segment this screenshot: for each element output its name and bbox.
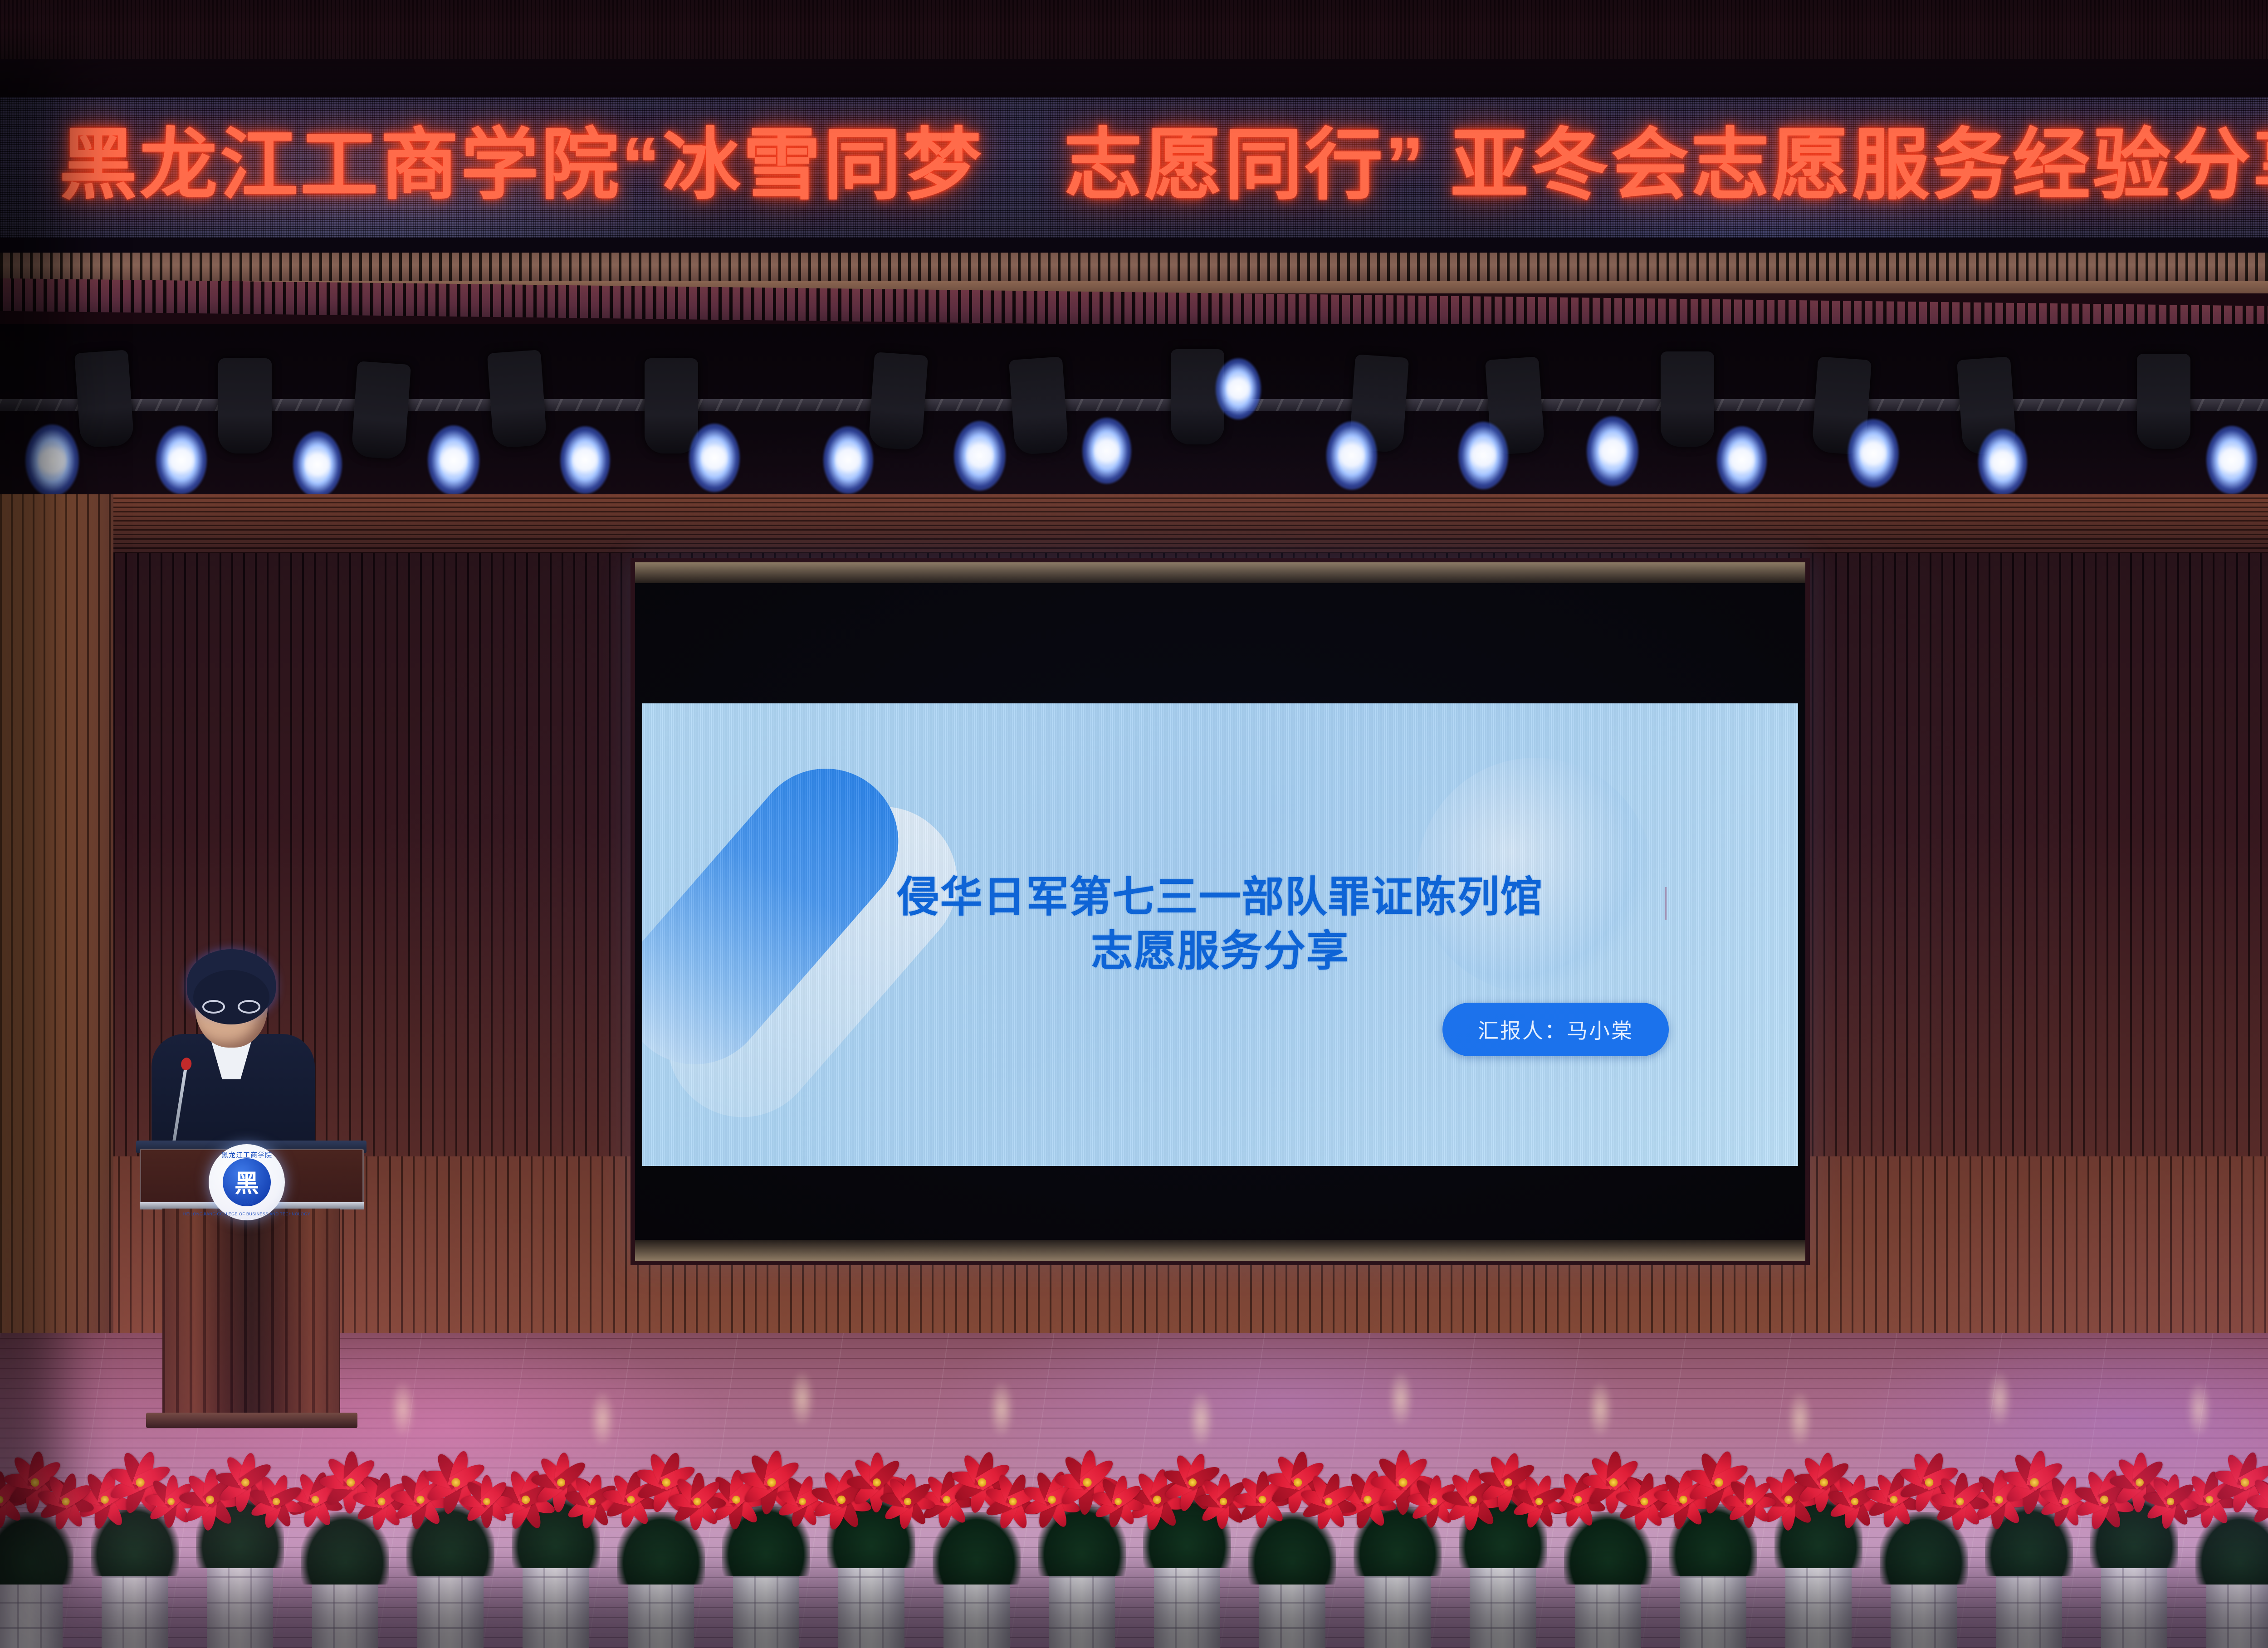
poinsettia-center xyxy=(1220,1498,1227,1506)
presentation-slide: 侵华日军第七三一部队罪证陈列馆 志愿服务分享 汇报人：马小棠 xyxy=(642,703,1798,1166)
poinsettia-center xyxy=(101,1496,109,1504)
poinsettia-center xyxy=(2136,1478,2144,1487)
poinsettia-bloom xyxy=(46,1482,85,1521)
floor-light-reflection xyxy=(390,1380,415,1438)
slide-content: 侵华日军第七三一部队罪证陈列馆 志愿服务分享 汇报人：马小棠 xyxy=(642,703,1798,1166)
stage-lamp xyxy=(156,426,207,494)
poinsettia-plant xyxy=(2077,1444,2191,1648)
poinsettia-center xyxy=(1679,1496,1687,1504)
poinsettia-center xyxy=(1890,1496,1897,1503)
stage-lamp xyxy=(689,424,740,492)
stage-lamp xyxy=(293,431,342,497)
stage-lamp xyxy=(1082,418,1131,484)
stage-lamp-core xyxy=(966,437,994,474)
university-emblem: 黑龙江工商学院 黑 2002 HEILONGJIANG COLLEGE OF B… xyxy=(209,1144,285,1220)
poinsettia-center xyxy=(1535,1498,1543,1506)
poinsettia-plant xyxy=(1762,1444,1875,1648)
stage-lamp xyxy=(1587,416,1638,486)
poinsettia-center xyxy=(62,1497,69,1505)
stage-lamp xyxy=(1717,426,1767,494)
stage-lamp-core xyxy=(304,447,331,483)
poinsettia-bloom xyxy=(1309,1482,1348,1521)
floor-light-reflection xyxy=(989,1380,1014,1438)
poinsettia-center xyxy=(873,1478,881,1487)
floor-light-reflection xyxy=(1388,1370,1413,1429)
poinsettia-center xyxy=(1956,1497,1964,1505)
stage-lamp-core xyxy=(38,441,67,480)
slide-presenter-badge: 汇报人：马小棠 xyxy=(1442,1003,1669,1056)
poinsettia-center xyxy=(483,1498,490,1505)
ceiling-panel xyxy=(0,0,2268,68)
poinsettia-center xyxy=(136,1478,144,1487)
poinsettia-center xyxy=(1294,1478,1302,1487)
podium-base xyxy=(146,1413,357,1428)
poinsettia-center xyxy=(1746,1498,1753,1505)
stage-lamp xyxy=(1848,419,1899,488)
stage-lamp-core xyxy=(1226,372,1251,405)
stage-light-fixture xyxy=(645,358,698,453)
poinsettia-center xyxy=(1114,1498,1122,1505)
poinsettia-center xyxy=(1820,1478,1828,1487)
led-banner-text: 黑龙江工商学院“冰雪同梦 志愿同行” 亚冬会志愿服务经验分享会 xyxy=(59,126,2268,204)
wall-pillar-left xyxy=(0,494,113,1342)
poinsettia-plant xyxy=(499,1444,612,1648)
proscenium-header xyxy=(0,494,2268,553)
screen-metal-trim-bottom xyxy=(635,1240,1805,1261)
poinsettia-bloom xyxy=(2256,1482,2268,1521)
stage-lamp xyxy=(823,426,873,494)
poinsettia-center xyxy=(2167,1498,2175,1506)
poinsettia-center xyxy=(767,1478,776,1487)
poinsettia-center xyxy=(377,1497,385,1505)
poinsettia-plant xyxy=(1025,1444,1139,1648)
stage-lamp xyxy=(1216,358,1261,419)
stage-lamp-core xyxy=(1989,444,2016,480)
poinsettia-center xyxy=(241,1478,249,1487)
poinsettia-plant xyxy=(1341,1444,1454,1648)
poinsettia-plant xyxy=(1867,1444,1980,1648)
poinsettia-center xyxy=(1430,1498,1437,1505)
podium-with-speaker: 黑龙江工商学院 黑 2002 HEILONGJIANG COLLEGE OF B… xyxy=(136,946,372,1426)
poinsettia-center xyxy=(693,1497,701,1505)
stage-lamp xyxy=(1326,421,1377,490)
poinsettia-center xyxy=(1574,1496,1582,1503)
poinsettia-bloom xyxy=(1100,1483,1136,1519)
slide-title: 侵华日军第七三一部队罪证陈列馆 志愿服务分享 xyxy=(897,870,1544,978)
poinsettia-bloom xyxy=(1941,1482,1980,1521)
emblem-glyph: 黑 xyxy=(235,1171,259,1196)
stage-lamp-core xyxy=(1728,442,1755,478)
slide-title-line1: 侵华日军第七三一部队罪证陈列馆 xyxy=(897,873,1544,921)
poinsettia-center xyxy=(1325,1497,1332,1505)
poinsettia-center xyxy=(1009,1497,1017,1505)
emblem-year: 2002 xyxy=(240,1198,254,1205)
floor-light-reflection xyxy=(789,1370,815,1429)
poinsettia-center xyxy=(451,1478,460,1487)
poinsettia-center xyxy=(167,1498,175,1505)
poinsettia-center xyxy=(557,1478,565,1487)
poinsettia-bloom xyxy=(889,1483,927,1521)
screen-black-surround: 侵华日军第七三一部队罪证陈列馆 志愿服务分享 汇报人：马小棠 xyxy=(635,583,1805,1240)
poinsettia-center xyxy=(2205,1496,2213,1503)
stage-light-fixture xyxy=(1009,356,1069,455)
poinsettia-center xyxy=(1469,1496,1477,1504)
poinsettia-center xyxy=(416,1496,425,1504)
poinsettia-plant xyxy=(0,1444,86,1648)
stage-light-fixture xyxy=(218,358,272,453)
auditorium-stage-photo: 黑龙江工商学院“冰雪同梦 志愿同行” 亚冬会志愿服务经验分享会 侵华日军第七三一… xyxy=(0,0,2268,1648)
flower-pot xyxy=(523,1555,589,1648)
poinsettia-plant xyxy=(815,1444,928,1648)
poinsettia-center xyxy=(1153,1496,1162,1504)
emblem-english-name: HEILONGJIANG COLLEGE OF BUSINESS AND TEC… xyxy=(183,1212,310,1216)
poinsettia-center xyxy=(943,1496,950,1503)
stage-lamp-core xyxy=(1470,437,1496,473)
stage-lamp-core xyxy=(835,442,861,478)
poinsettia-bloom xyxy=(2152,1483,2190,1521)
valance-shadow xyxy=(0,238,2268,253)
slide-title-line2: 志愿服务分享 xyxy=(897,924,1544,978)
poinsettia-center xyxy=(1048,1496,1056,1504)
floor-light-reflection xyxy=(2186,1380,2212,1438)
poinsettia-bloom xyxy=(678,1482,717,1521)
poinsettia-center xyxy=(627,1496,635,1503)
poinsettia-center xyxy=(2100,1496,2109,1504)
stage-lamp-core xyxy=(1338,437,1365,474)
poinsettia-plant xyxy=(2183,1444,2268,1648)
poinsettia-center xyxy=(1398,1478,1407,1487)
poinsettia-center xyxy=(1504,1478,1512,1487)
poinsettia-plant xyxy=(709,1444,823,1648)
poinsettia-bloom xyxy=(2190,1480,2229,1519)
stage-light-fixture xyxy=(351,361,411,460)
poinsettia-plant xyxy=(1446,1444,1559,1648)
stage-lamp xyxy=(1978,429,2027,495)
poinsettia-plant xyxy=(394,1444,507,1648)
poinsettia-center xyxy=(1714,1478,1723,1487)
poinsettia-plant xyxy=(920,1444,1033,1648)
stage-lamp xyxy=(25,424,79,497)
poinsettia-center xyxy=(2062,1498,2069,1505)
stage-light-fixture xyxy=(2137,354,2190,449)
poinsettia-center xyxy=(31,1478,39,1487)
stage-lamp xyxy=(1458,422,1508,489)
poinsettia-center xyxy=(1784,1496,1793,1504)
poinsettia-center xyxy=(904,1498,912,1506)
stage-light-fixture xyxy=(1661,351,1714,447)
poinsettia-bloom xyxy=(258,1483,295,1521)
poinsettia-center xyxy=(1851,1498,1859,1506)
truss-void xyxy=(0,324,2268,515)
projection-screen-frame: 侵华日军第七三一部队罪证陈列馆 志愿服务分享 汇报人：马小棠 xyxy=(631,558,1810,1265)
poinsettia-center xyxy=(311,1496,319,1503)
stage-lamp xyxy=(428,425,479,495)
poinsettia-center xyxy=(1188,1478,1197,1487)
stage-light-fixture xyxy=(868,352,928,451)
poinsettia-center xyxy=(978,1478,987,1487)
poinsettia-center xyxy=(1925,1478,1934,1487)
poinsettia-center xyxy=(2030,1478,2038,1487)
poinsettia-center xyxy=(732,1496,740,1504)
floor-light-reflection xyxy=(1588,1380,1613,1438)
poinsettia-row xyxy=(0,1439,2268,1648)
led-banner: 黑龙江工商学院“冰雪同梦 志愿同行” 亚冬会志愿服务经验分享会 xyxy=(0,98,2268,238)
flower-pot xyxy=(838,1562,904,1648)
poinsettia-bloom xyxy=(1520,1483,1558,1521)
poinsettia-plant xyxy=(1972,1444,2086,1648)
poinsettia-plant xyxy=(1657,1444,1770,1648)
stage-lamp-core xyxy=(1094,433,1120,469)
stage-lamp-core xyxy=(701,439,728,477)
stage-lamp-core xyxy=(1598,432,1627,470)
poinsettia-center xyxy=(2241,1478,2249,1487)
screen-metal-trim-top xyxy=(635,562,1805,583)
stage-lamp xyxy=(954,421,1006,491)
stage-lamp xyxy=(2206,426,2257,494)
stage-light-fixture xyxy=(487,350,547,449)
poinsettia-center xyxy=(1995,1496,2003,1504)
poinsettia-center xyxy=(347,1478,355,1487)
poinsettia-plant xyxy=(288,1444,402,1648)
poinsettia-center xyxy=(206,1496,215,1504)
poinsettia-center xyxy=(273,1498,280,1506)
poinsettia-center xyxy=(837,1496,846,1504)
poinsettia-center xyxy=(1083,1478,1091,1487)
poinsettia-center xyxy=(588,1498,596,1506)
stage-lamp-core xyxy=(572,442,598,478)
poinsettia-bloom xyxy=(469,1483,504,1519)
stage-lamp-core xyxy=(440,441,468,479)
lighting-truss-bar xyxy=(0,399,2268,411)
poinsettia-plant xyxy=(78,1444,191,1648)
floor-light-reflection xyxy=(1987,1370,2012,1429)
flower-pot xyxy=(2101,1562,2167,1648)
poinsettia-bloom xyxy=(1731,1483,1767,1519)
podium-body xyxy=(162,1209,340,1422)
stage-lamp xyxy=(560,426,610,494)
stage-lamp-core xyxy=(1860,435,1887,472)
poinsettia-center xyxy=(1640,1497,1648,1505)
valance-slats-upper xyxy=(0,253,2268,281)
poinsettia-plant xyxy=(604,1444,718,1648)
poinsettia-center xyxy=(662,1478,671,1487)
poinsettia-plant xyxy=(1236,1444,1349,1648)
poinsettia-center xyxy=(1364,1496,1372,1504)
stage-lamp-core xyxy=(2218,442,2245,479)
poinsettia-plant xyxy=(183,1444,297,1648)
poinsettia-center xyxy=(1609,1478,1618,1487)
poinsettia-plant xyxy=(1551,1444,1665,1648)
poinsettia-center xyxy=(799,1498,806,1505)
stage-light-fixture xyxy=(74,350,134,449)
poinsettia-plant xyxy=(1130,1444,1244,1648)
speaker-glasses-icon xyxy=(202,1000,260,1014)
flower-pot xyxy=(1785,1555,1852,1648)
poinsettia-center xyxy=(522,1496,530,1504)
stage-lamp-core xyxy=(168,442,195,479)
poinsettia-center xyxy=(1258,1496,1266,1503)
